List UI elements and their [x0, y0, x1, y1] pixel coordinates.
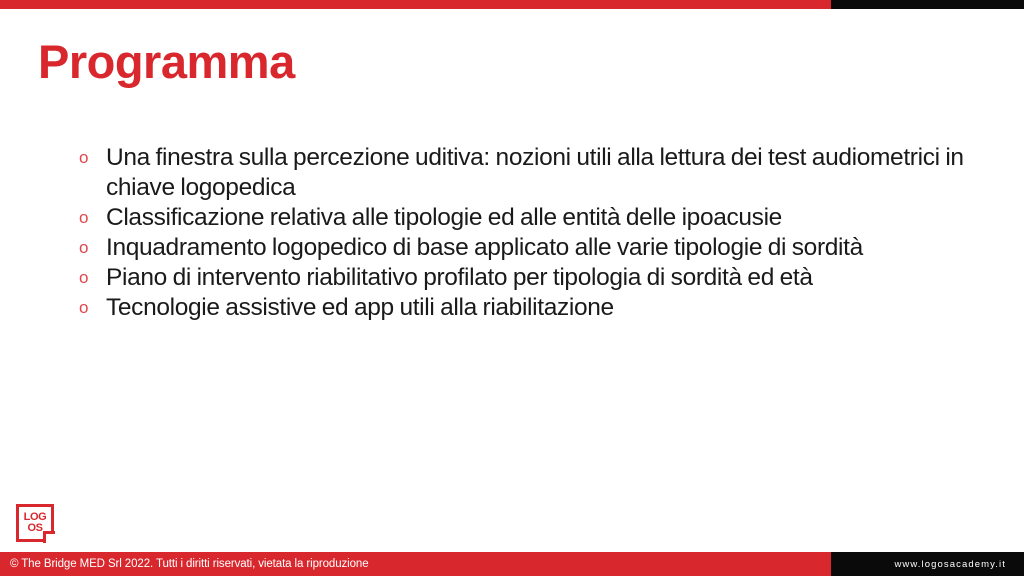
list-item: o Una finestra sulla percezione uditiva:…	[74, 143, 1004, 203]
logo-corner-notch	[43, 531, 55, 543]
bullet-circle-icon: o	[74, 143, 106, 173]
list-item: o Classificazione relativa alle tipologi…	[74, 203, 1004, 233]
bullet-circle-icon: o	[74, 263, 106, 293]
bullet-circle-icon: o	[74, 203, 106, 233]
list-item-text: Classificazione relativa alle tipologie …	[106, 203, 1004, 233]
page-title: Programma	[38, 36, 295, 88]
list-item-text: Una finestra sulla percezione uditiva: n…	[106, 143, 1004, 203]
list-item-text: Piano di intervento riabilitativo profil…	[106, 263, 1004, 293]
logo-wordmark-line2: OS	[27, 523, 42, 534]
logos-logo-icon: LOG OS	[16, 504, 54, 542]
list-item-text: Inquadramento logopedico di base applica…	[106, 233, 1004, 263]
bullet-circle-icon: o	[74, 293, 106, 323]
program-bullet-list: o Una finestra sulla percezione uditiva:…	[74, 143, 1004, 323]
copyright-text: © The Bridge MED Srl 2022. Tutti i dirit…	[0, 558, 369, 570]
slide: Programma o Una finestra sulla percezion…	[0, 0, 1024, 576]
top-accent-bar	[0, 0, 1024, 9]
website-url: www.logosacademy.it	[894, 559, 1024, 570]
top-accent-bar-red-segment	[0, 0, 831, 9]
list-item: o Piano di intervento riabilitativo prof…	[74, 263, 1004, 293]
list-item: o Tecnologie assistive ed app utili alla…	[74, 293, 1004, 323]
bullet-circle-icon: o	[74, 233, 106, 263]
footer-bar-black-segment: www.logosacademy.it	[831, 552, 1024, 576]
list-item-text: Tecnologie assistive ed app utili alla r…	[106, 293, 1004, 323]
footer-bar: © The Bridge MED Srl 2022. Tutti i dirit…	[0, 552, 1024, 576]
list-item: o Inquadramento logopedico di base appli…	[74, 233, 1004, 263]
top-accent-bar-black-segment	[831, 0, 1024, 9]
footer-bar-red-segment: © The Bridge MED Srl 2022. Tutti i dirit…	[0, 552, 831, 576]
